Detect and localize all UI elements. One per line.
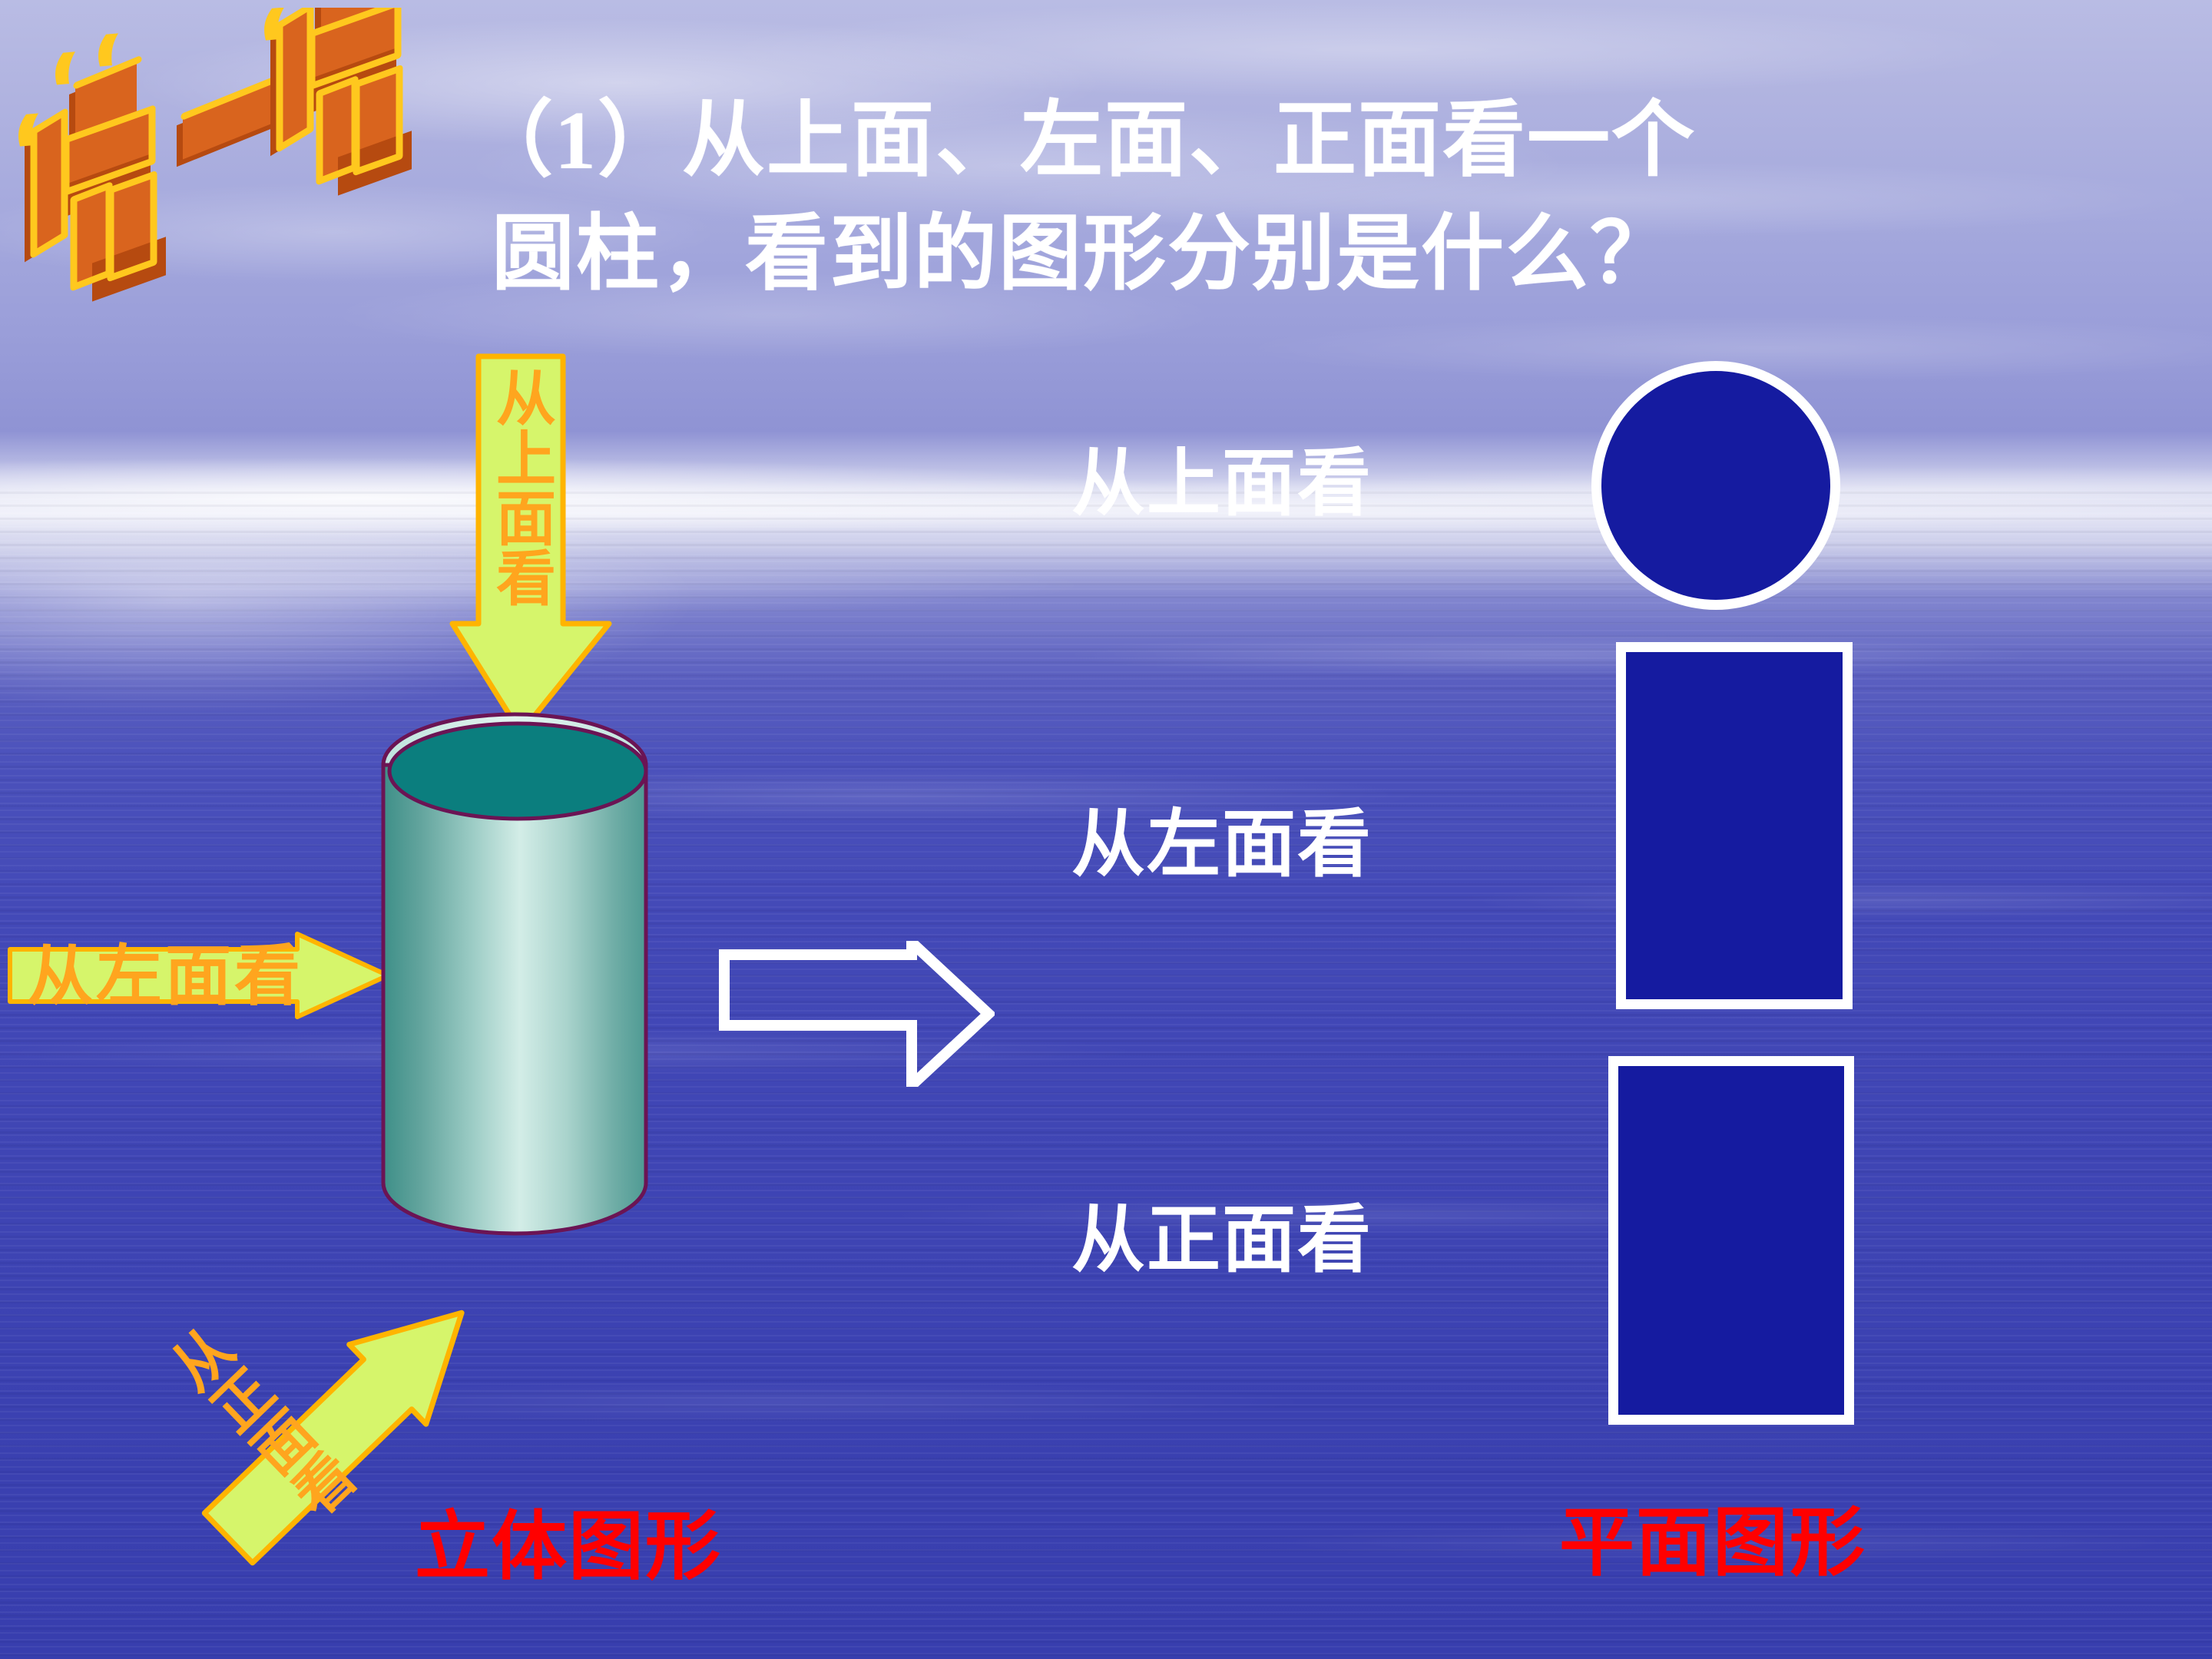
slide-title: （1）从上面、左面、正面看一个 圆柱，看到的图形分别是什么？ <box>330 84 1836 312</box>
title-line-1: （1）从上面、左面、正面看一个 <box>330 84 1836 198</box>
cylinder-solid <box>349 707 680 1267</box>
view-label-front: 从正面看 <box>1071 1194 1373 1286</box>
transform-arrow-icon <box>718 941 995 1087</box>
caption-solid-figure: 立体图形 <box>415 1502 722 1594</box>
view-label-left: 从左面看 <box>1071 799 1373 891</box>
arrow-top-label: 从上面看 <box>461 367 561 607</box>
title-line-2: 圆柱，看到的图形分别是什么？ <box>330 198 1836 312</box>
view-label-top: 从上面看 <box>1071 438 1373 530</box>
shape-left-view-rectangle <box>1616 642 1853 1009</box>
arrow-left-label: 从左面看 <box>27 934 319 1018</box>
slide-canvas: .wf{fill:#D9641E;} .wd{fill:#B64A10;} .w… <box>0 0 2212 1659</box>
caption-plane-figure: 平面图形 <box>1559 1498 1866 1590</box>
shape-top-view-circle <box>1601 371 1830 600</box>
shape-front-view-rectangle <box>1608 1056 1854 1425</box>
